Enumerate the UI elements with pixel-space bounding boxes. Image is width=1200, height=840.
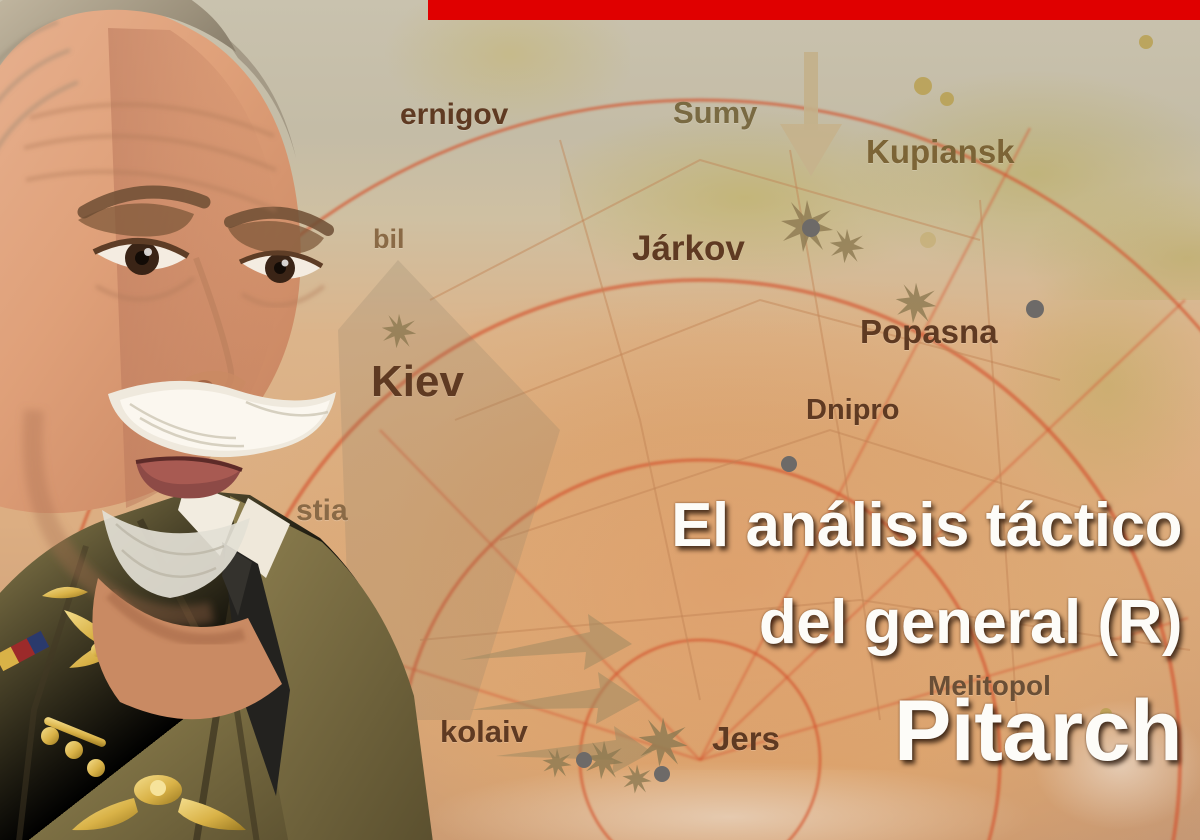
news-banner-image: ernigov Sumy Kupiansk bil Járkov Popasna… <box>0 0 1200 840</box>
accent-bar-top <box>428 0 1200 20</box>
map-label-jerson: Jers <box>712 720 780 758</box>
portrait-retired-general <box>0 0 460 840</box>
map-label-sumy: Sumy <box>673 95 757 131</box>
headline-line-1: El análisis táctico <box>671 495 1182 557</box>
map-label-popasna: Popasna <box>860 313 998 351</box>
map-label-jarkov: Járkov <box>632 229 745 269</box>
headline-line-2: del general (R) <box>759 592 1182 654</box>
map-label-dnipro: Dnipro <box>806 394 899 427</box>
headline-line-3: Pitarch <box>894 688 1182 774</box>
map-label-kupiansk: Kupiansk <box>866 133 1015 171</box>
